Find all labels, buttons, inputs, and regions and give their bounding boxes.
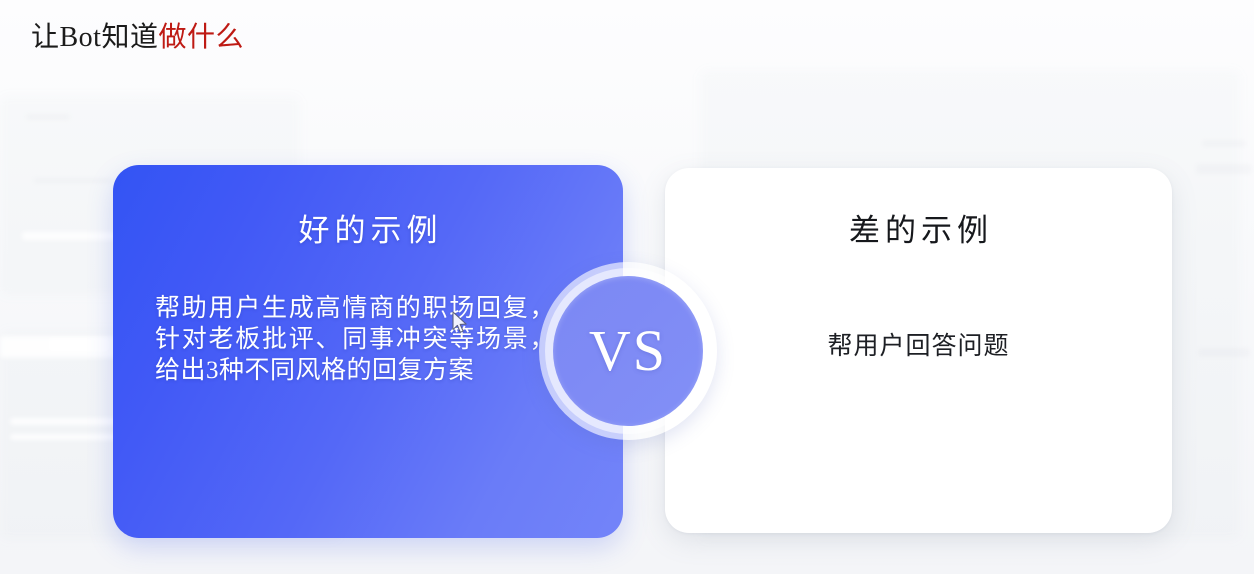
background-ghost-line (48, 338, 110, 352)
background-ghost-line (34, 178, 112, 183)
vs-label: VS (589, 322, 667, 380)
slide-canvas: 让Bot知道做什么 好的示例 帮助用户生成高情商的职场回复，针对老板批评、同事冲… (0, 0, 1254, 574)
vs-badge: VS (539, 262, 717, 440)
page-title-accent: 做什么 (158, 22, 244, 53)
good-example-body: 帮助用户生成高情商的职场回复，针对老板批评、同事冲突等场景，给出3种不同风格的回… (155, 293, 555, 386)
bad-example-title: 差的示例 (665, 205, 1172, 250)
background-ghost-line (1202, 140, 1246, 147)
vs-badge-circle: VS (553, 276, 703, 426)
background-ghost-line (26, 114, 70, 120)
good-example-title: 好的示例 (113, 205, 623, 250)
background-ghost-line (10, 434, 130, 440)
bad-example-body: 帮用户回答问题 (665, 326, 1172, 362)
bad-example-card[interactable]: 差的示例 帮用户回答问题 (665, 168, 1172, 533)
page-title-plain: 让Bot知道 (31, 22, 158, 53)
page-title: 让Bot知道做什么 (31, 16, 244, 60)
background-ghost-line (1198, 348, 1250, 357)
background-ghost-line (1196, 164, 1252, 174)
